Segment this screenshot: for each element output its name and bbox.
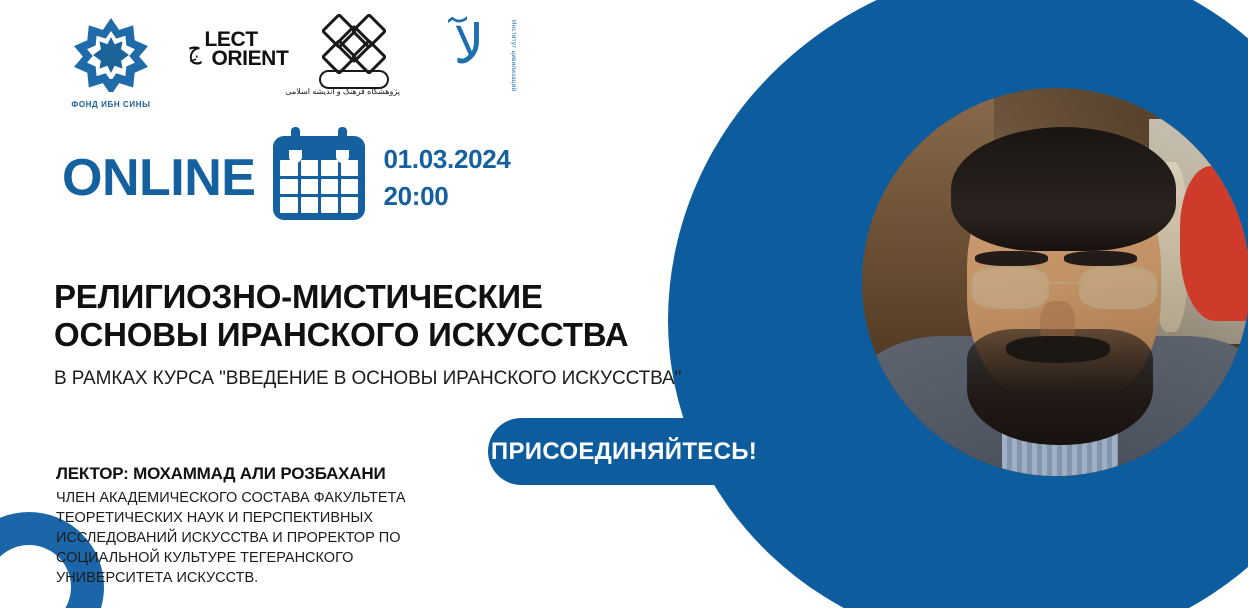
- event-promo-poster: ФОНД ИБН СИНЫ ِج LECT ORIENT پژوهشگاه فر…: [0, 0, 1248, 608]
- online-format-label: ONLINE: [62, 152, 255, 204]
- logo-vertical-caption: Институт цивилизаций: [510, 20, 516, 91]
- persian-calligraphy-icon: ﻵ: [426, 18, 512, 72]
- calendar-icon: [273, 136, 365, 220]
- knot-book-icon: [323, 16, 385, 72]
- lect-orient-glyph-icon: ِج: [188, 39, 202, 61]
- logo-islamic-culture-research: پژوهشگاه فرهنگ و اندیشه اسلامی: [308, 14, 400, 96]
- lect-orient-line2: ORIENT: [211, 49, 288, 68]
- eight-point-star-icon: [67, 14, 155, 96]
- logo-lect-orient: ِج LECT ORIENT: [186, 14, 282, 69]
- lecturer-name: ЛЕКТОР: МОХАММАД АЛИ РОЗБАХАНИ: [56, 464, 416, 484]
- event-datetime: 01.03.2024 20:00: [383, 144, 510, 211]
- logo-institute-of-civilizations: ﻵ Институт цивилизаций: [426, 14, 512, 72]
- partner-logo-row: ФОНД ИБН СИНЫ ِج LECT ORIENT پژوهشگاه فر…: [62, 14, 512, 109]
- lecturer-bio-line: ИССЛЕДОВАНИЙ ИСКУССТВА И ПРОРЕКТОР ПО: [56, 528, 416, 548]
- lecturer-bio: ЧЛЕН АКАДЕМИЧЕСКОГО СОСТАВА ФАКУЛЬТЕТА Т…: [56, 488, 416, 588]
- lecturer-bio-line: ЧЛЕН АКАДЕМИЧЕСКОГО СОСТАВА ФАКУЛЬТЕТА: [56, 488, 416, 508]
- event-date: 01.03.2024: [383, 144, 510, 175]
- lecturer-bio-line: ТЕОРЕТИЧЕСКИХ НАУК И ПЕРСПЕКТИВНЫХ: [56, 508, 416, 528]
- lecturer-bio-line: УНИВЕРСИТЕТА ИСКУССТВ.: [56, 568, 416, 588]
- lecturer-bio-line: СОЦИАЛЬНОЙ КУЛЬТУРЕ ТЕГЕРАНСКОГО: [56, 548, 416, 568]
- page-subtitle: В РАМКАХ КУРСА "ВВЕДЕНИЕ В ОСНОВЫ ИРАНСК…: [54, 367, 714, 391]
- event-meta-row: ONLINE 01.03.2024 20:00: [62, 136, 511, 220]
- lecturer-block: ЛЕКТОР: МОХАММАД АЛИ РОЗБАХАНИ ЧЛЕН АКАД…: [56, 464, 416, 588]
- page-title: РЕЛИГИОЗНО-МИСТИЧЕСКИЕ ОСНОВЫ ИРАНСКОГО …: [54, 278, 674, 355]
- event-time: 20:00: [383, 181, 510, 212]
- open-book-icon: [319, 70, 389, 85]
- logo-ibn-sina-foundation: ФОНД ИБН СИНЫ: [62, 14, 160, 109]
- join-button[interactable]: ПРИСОЕДИНЯЙТЕСЬ!: [488, 418, 760, 485]
- logo-caption: ФОНД ИБН СИНЫ: [62, 100, 160, 109]
- speaker-portrait: [862, 88, 1248, 476]
